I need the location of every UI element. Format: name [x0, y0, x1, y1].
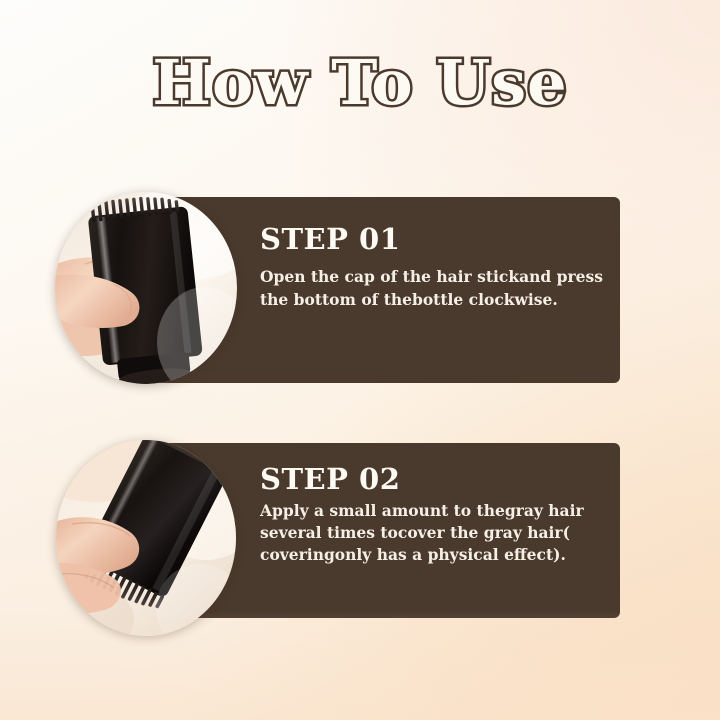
- hand-holding-hair-stick-illustration-1: [55, 192, 237, 384]
- step-2-product-photo: [56, 440, 236, 636]
- hand-holding-hair-stick-illustration-2: [56, 440, 236, 636]
- step-2-heading: STEP 02: [260, 463, 605, 496]
- page-title-container: How To Use: [0, 52, 720, 114]
- step-1-body: Open the cap of the hair stickand press …: [260, 266, 605, 311]
- step-2-text-block: STEP 02 Apply a small amount to thegray …: [260, 463, 605, 566]
- how-to-use-infographic: How To Use STEP 01 Open the cap of the h…: [0, 0, 720, 720]
- step-1-text-block: STEP 01 Open the cap of the hair stickan…: [260, 223, 605, 311]
- step-1-heading: STEP 01: [260, 223, 605, 256]
- step-1-product-photo: [55, 192, 237, 384]
- step-2-body: Apply a small amount to thegray hair sev…: [260, 500, 605, 566]
- page-title: How To Use: [152, 52, 567, 114]
